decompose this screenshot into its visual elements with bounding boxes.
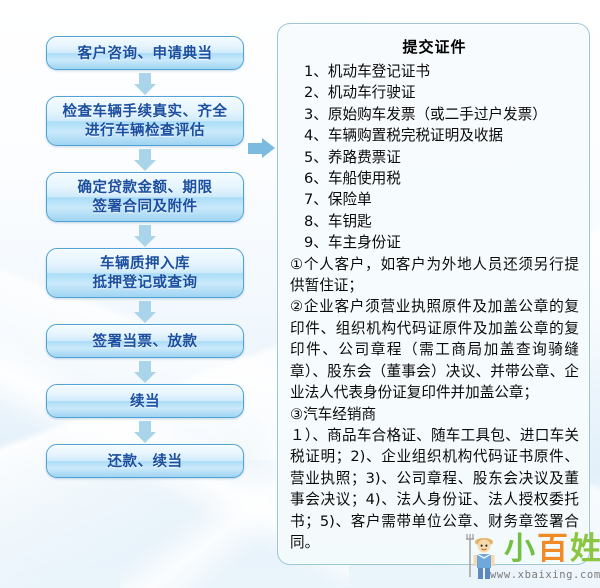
arrow-right-icon	[248, 138, 276, 158]
flow-step-4-line-2: 抵押登记或查询	[51, 274, 239, 293]
arrow-head	[134, 312, 156, 323]
doc-note-4: １）、商品车合格证、随车工具包、进口车关税证明；2)、企业组织机构代码证书原件、…	[290, 425, 579, 553]
arrow-down-icon-4	[46, 298, 244, 324]
flow-step-4[interactable]: 车辆质押入库 抵押登记或查询	[46, 248, 244, 298]
flow-step-2-line-2: 进行车辆检查评估	[51, 122, 239, 141]
doc-item-5: 5、养路费票证	[290, 147, 579, 168]
flow-step-2[interactable]: 检查车辆手续真实、齐全 进行车辆检查评估	[46, 96, 244, 146]
process-flow-column: 客户咨询、申请典当 检查车辆手续真实、齐全 进行车辆检查评估 确定贷款金额、期限…	[46, 36, 246, 478]
doc-note-2: ②企业客户须营业执照原件及加盖公章的复印件、组织机构代码证原件及加盖公章的复印件…	[290, 296, 579, 403]
flow-step-7-line-1: 还款、续当	[51, 453, 239, 472]
documents-panel: 提交证件 1、机动车登记证书 2、机动车行驶证 3、原始购车发票（或二手过户发票…	[277, 23, 590, 565]
flow-step-3[interactable]: 确定贷款金额、期限 签署合同及附件	[46, 172, 244, 222]
doc-item-3: 3、原始购车发票（或二手过户发票）	[290, 104, 579, 125]
flow-step-1-line-1: 客户咨询、申请典当	[51, 45, 239, 64]
doc-item-6: 6、车船使用税	[290, 168, 579, 189]
flow-step-3-line-2: 签署合同及附件	[51, 198, 239, 217]
arrow-head	[134, 372, 156, 383]
flowchart-canvas: 客户咨询、申请典当 检查车辆手续真实、齐全 进行车辆检查评估 确定贷款金额、期限…	[0, 0, 600, 588]
arrow-down-icon-2	[46, 146, 244, 172]
arrow-head	[134, 236, 156, 247]
flow-step-1[interactable]: 客户咨询、申请典当	[46, 36, 244, 70]
doc-item-8: 8、车钥匙	[290, 211, 579, 232]
arrow-head	[134, 432, 156, 443]
watermark-url: www.xbaixing.com	[490, 569, 600, 581]
arrow-down-icon-1	[46, 70, 244, 96]
flow-step-3-line-1: 确定贷款金额、期限	[51, 179, 239, 198]
arrow-head	[262, 138, 275, 158]
flow-step-6-line-1: 续当	[51, 393, 239, 412]
flow-step-5-line-1: 签署当票、放款	[51, 333, 239, 352]
flow-step-7[interactable]: 还款、续当	[46, 444, 244, 478]
doc-item-4: 4、车辆购置税完税证明及收据	[290, 125, 579, 146]
arrow-shaft	[248, 143, 263, 154]
flow-step-5[interactable]: 签署当票、放款	[46, 324, 244, 358]
panel-title: 提交证件	[290, 36, 579, 57]
doc-item-9: 9、车主身份证	[290, 232, 579, 253]
doc-note-1: ①个人客户，如客户为外地人员还须另行提供暂住证；	[290, 254, 579, 297]
arrow-down-icon-3	[46, 222, 244, 248]
doc-item-7: 7、保险单	[290, 189, 579, 210]
arrow-head	[134, 84, 156, 95]
doc-note-3: ③汽车经销商	[290, 404, 579, 425]
arrow-down-icon-5	[46, 358, 244, 384]
doc-item-1: 1、机动车登记证书	[290, 61, 579, 82]
arrow-head	[134, 160, 156, 171]
arrow-down-icon-6	[46, 418, 244, 444]
flow-step-4-line-1: 车辆质押入库	[51, 255, 239, 274]
flow-step-2-line-1: 检查车辆手续真实、齐全	[51, 103, 239, 122]
flow-step-6[interactable]: 续当	[46, 384, 244, 418]
doc-item-2: 2、机动车行驶证	[290, 82, 579, 103]
